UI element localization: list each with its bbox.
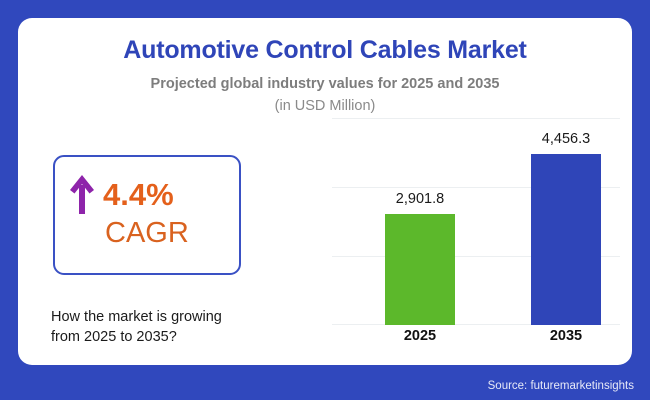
growth-caption-line1: How the market is growing (51, 308, 281, 328)
infographic-root: Automotive Control Cables Market Project… (0, 0, 650, 400)
page-title: Automotive Control Cables Market (18, 36, 632, 65)
subtitle-unit: (in USD Million) (18, 98, 632, 114)
x-tick-2025: 2025 (360, 328, 480, 344)
bar-2035[interactable] (531, 154, 601, 325)
bars-group: 2,901.8 4,456.3 (332, 118, 620, 325)
bar-chart: 2,901.8 4,456.3 2025 2035 (332, 118, 620, 350)
subtitle-primary: Projected global industry values for 202… (18, 76, 632, 92)
source-attribution: Source: futuremarketinsights (488, 380, 634, 392)
cagr-value: 4.4% (103, 179, 174, 210)
cagr-highlight-box: 4.4% CAGR (53, 155, 241, 275)
x-tick-2035: 2035 (506, 328, 626, 344)
cagr-value-row: 4.4% (69, 173, 174, 215)
arrow-up-icon (69, 173, 95, 215)
chart-plot-area: 2,901.8 4,456.3 (332, 118, 620, 325)
bar-2025[interactable] (385, 214, 455, 325)
cagr-label: CAGR (105, 219, 189, 248)
bar-value-label: 4,456.3 (506, 131, 626, 147)
growth-caption-line2: from 2025 to 2035? (51, 328, 281, 348)
content-card: Automotive Control Cables Market Project… (18, 18, 632, 365)
growth-caption: How the market is growing from 2025 to 2… (51, 308, 281, 347)
bar-value-label: 2,901.8 (360, 191, 480, 207)
x-axis: 2025 2035 (332, 328, 620, 350)
